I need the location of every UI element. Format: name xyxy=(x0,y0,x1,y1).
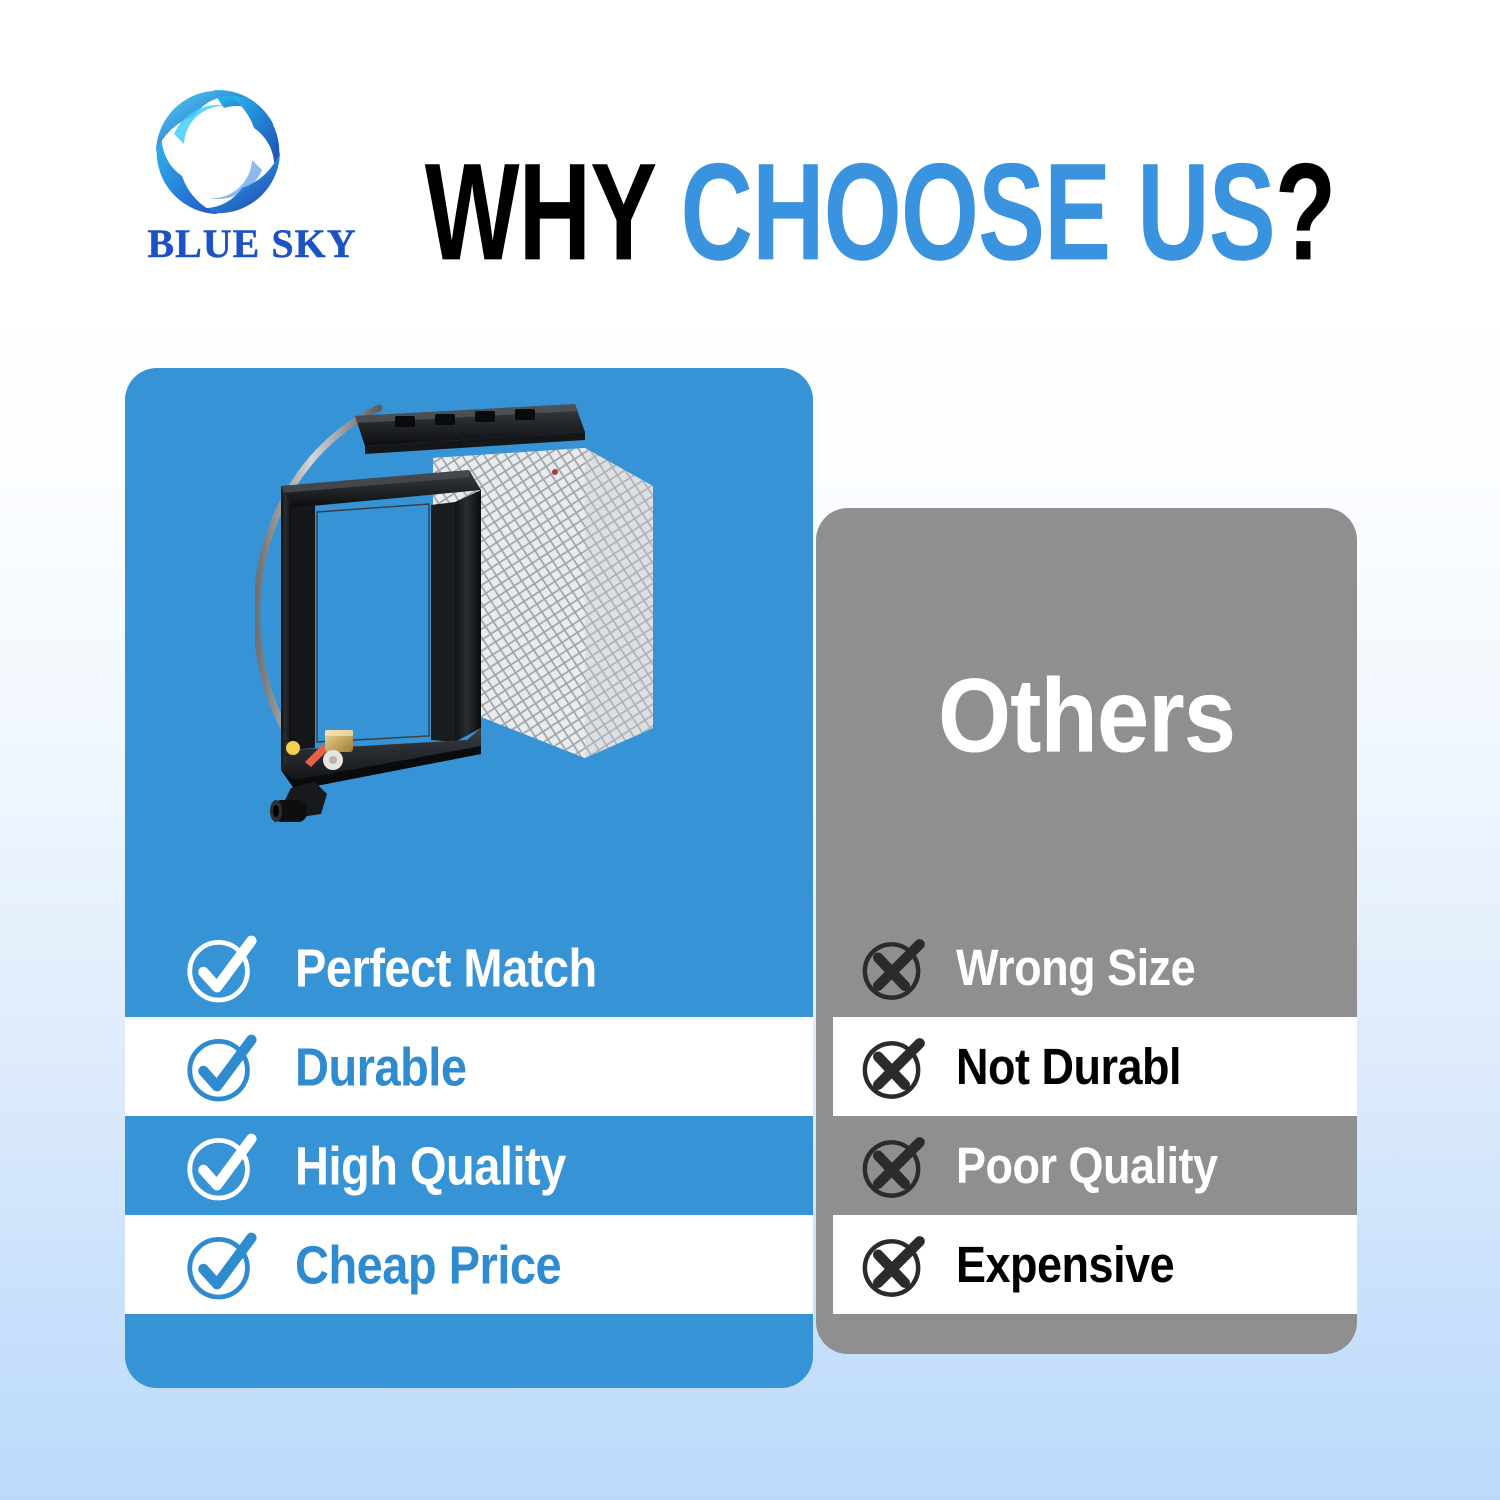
list-item[interactable]: High Quality xyxy=(125,1116,813,1215)
x-circle-icon xyxy=(856,931,930,1005)
check-circle-icon xyxy=(181,1027,261,1107)
others-heading: Others xyxy=(816,663,1357,768)
page-title: WHYCHOOSE US? xyxy=(415,135,1345,289)
x-circle-icon xyxy=(856,1030,930,1104)
brand-logo: BLUE SKY xyxy=(140,82,340,282)
list-item[interactable]: Perfect Match xyxy=(125,918,813,1017)
list-item[interactable]: Wrong Size xyxy=(816,918,1357,1017)
list-item[interactable]: Expensive xyxy=(833,1215,1357,1314)
list-item[interactable]: Not Durabl xyxy=(833,1017,1357,1116)
check-circle-icon xyxy=(181,1225,261,1305)
list-item-label: High Quality xyxy=(295,1139,566,1193)
list-item-label: Expensive xyxy=(956,1239,1174,1290)
header-banner: BLUE SKY WHYCHOOSE US? xyxy=(0,0,1500,330)
title-question-mark: ? xyxy=(1275,143,1335,281)
list-item-label: Cheap Price xyxy=(295,1238,561,1292)
list-item[interactable]: Poor Quality xyxy=(816,1116,1357,1215)
aperture-ring-logo-icon xyxy=(148,82,288,222)
x-circle-icon xyxy=(856,1129,930,1203)
list-item-label: Wrong Size xyxy=(956,942,1195,993)
list-item-label: Perfect Match xyxy=(295,941,597,995)
check-circle-icon xyxy=(181,928,261,1008)
infographic-page: BLUE SKY WHYCHOOSE US? xyxy=(0,0,1500,1500)
our-benefits-list: Perfect Match Durable High Quality xyxy=(125,918,813,1314)
list-item-label: Poor Quality xyxy=(956,1140,1218,1191)
x-circle-icon xyxy=(856,1228,930,1302)
list-item[interactable]: Cheap Price xyxy=(125,1215,813,1314)
others-card: Others Wrong Size Not Durabl xyxy=(816,508,1357,1354)
title-word-why: WHY xyxy=(425,143,657,281)
our-product-card: Perfect Match Durable High Quality xyxy=(125,368,813,1388)
list-item[interactable]: Durable xyxy=(125,1017,813,1116)
list-item-label: Durable xyxy=(295,1040,467,1094)
check-circle-icon xyxy=(181,1126,261,1206)
brand-name: BLUE SKY xyxy=(132,220,372,267)
list-item-label: Not Durabl xyxy=(956,1041,1181,1092)
humidifier-water-panel-kit-image xyxy=(255,398,685,868)
others-drawbacks-list: Wrong Size Not Durabl Poor Quality xyxy=(816,918,1357,1314)
title-word-choose-us: CHOOSE US xyxy=(680,143,1274,281)
